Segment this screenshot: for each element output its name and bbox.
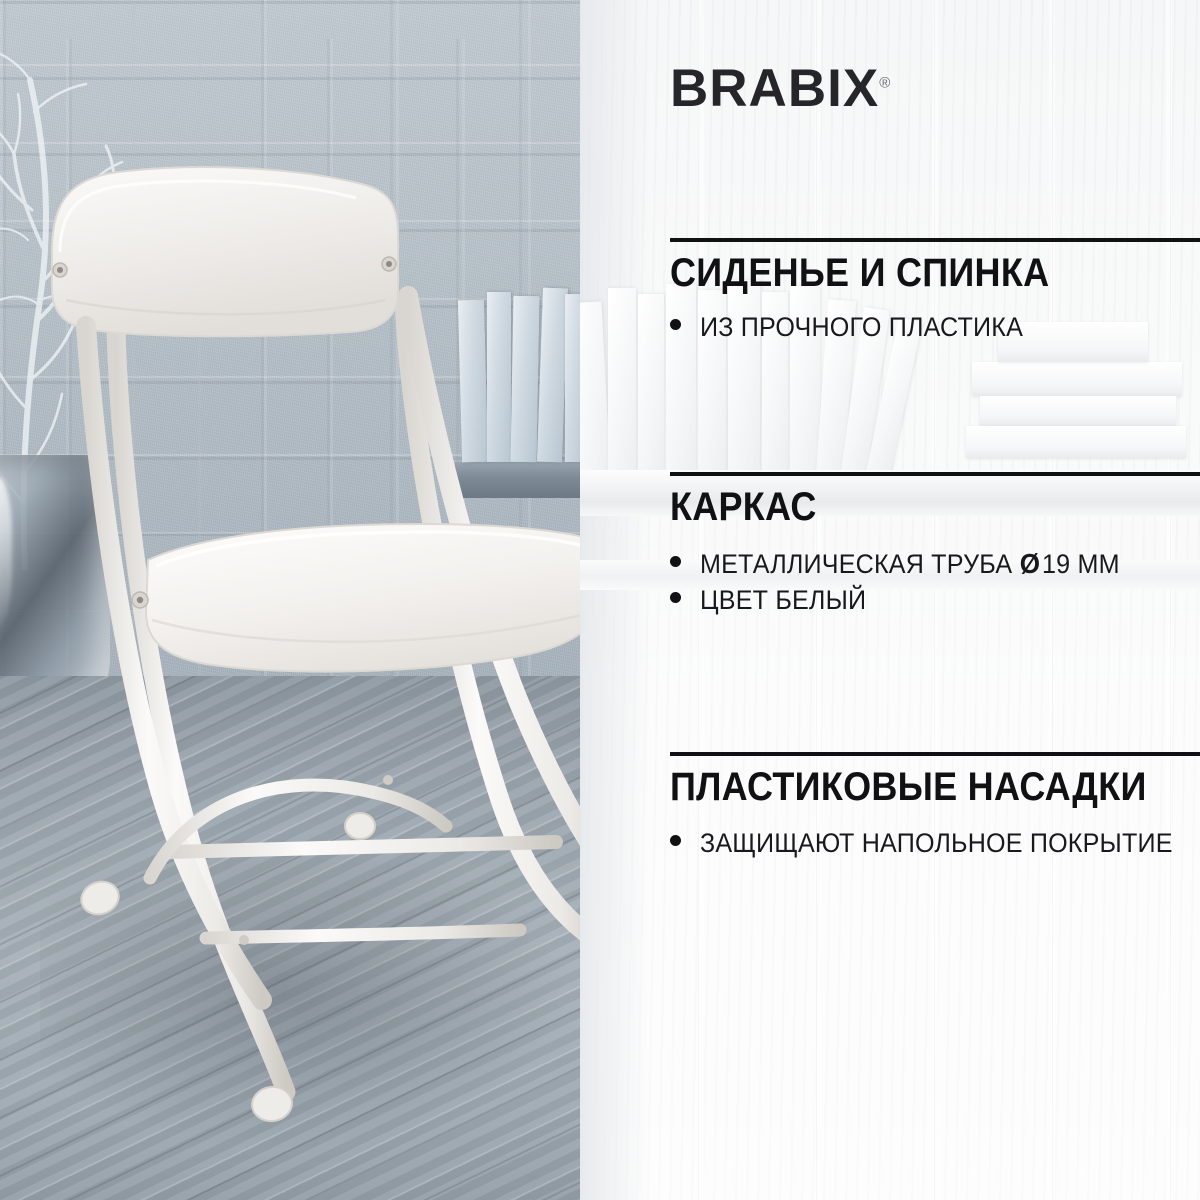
chair-foot-caps: [77, 813, 580, 1124]
section-frame: КАРКАС МЕТАЛЛИЧЕСКАЯ ТРУБАØ19 ММ ЦВЕТ БЕ…: [670, 486, 1200, 618]
bullet-text: ЗАЩИЩАЮТ НАПОЛЬНОЕ ПОКРЫТИЕ: [700, 826, 1173, 861]
list-item: МЕТАЛЛИЧЕСКАЯ ТРУБАØ19 ММ: [670, 546, 1200, 582]
section-title: ПЛАСТИКОВЫЕ НАСАДКИ: [670, 766, 1147, 808]
diameter-icon: Ø: [1012, 548, 1042, 579]
brand-name: BRABIX: [670, 59, 879, 118]
brabix-logo: BRABIX®: [670, 62, 890, 115]
folding-chair: [0, 0, 580, 1200]
section-plastic-caps: ПЛАСТИКОВЫЕ НАСАДКИ ЗАЩИЩАЮТ НАПОЛЬНОЕ П…: [670, 766, 1200, 861]
frame-material-label: МЕТАЛЛИЧЕСКАЯ ТРУБА: [700, 549, 1012, 579]
frame-diameter-value: 19 ММ: [1042, 549, 1120, 579]
chair-backrest: [52, 167, 398, 336]
section-title: СИДЕНЬЕ И СПИНКА: [670, 252, 1147, 294]
spec-content: BRABIX® СИДЕНЬЕ И СПИНКА ИЗ ПРОЧНОГО ПЛА…: [580, 0, 1200, 1200]
list-item: ИЗ ПРОЧНОГО ПЛАСТИКА: [670, 310, 1200, 345]
list-item: ЦВЕТ БЕЛЫЙ: [670, 583, 1200, 618]
bullet-text: МЕТАЛЛИЧЕСКАЯ ТРУБАØ19 ММ: [700, 546, 1120, 582]
bullet-icon: [670, 556, 681, 567]
product-infographic: BRABIX® СИДЕНЬЕ И СПИНКА ИЗ ПРОЧНОГО ПЛА…: [0, 0, 1200, 1200]
chair-seat: [132, 524, 580, 672]
bullet-icon: [670, 592, 681, 603]
registered-trademark-icon: ®: [879, 74, 890, 91]
section-divider: [670, 472, 1200, 476]
bullet-icon: [670, 835, 681, 846]
bullet-text: ЦВЕТ БЕЛЫЙ: [700, 583, 866, 618]
list-item: ЗАЩИЩАЮТ НАПОЛЬНОЕ ПОКРЫТИЕ: [670, 826, 1200, 861]
section-divider: [670, 238, 1200, 242]
section-seat-and-back: СИДЕНЬЕ И СПИНКА ИЗ ПРОЧНОГО ПЛАСТИКА: [670, 252, 1200, 345]
section-title: КАРКАС: [670, 486, 1147, 528]
section-bullets: ЗАЩИЩАЮТ НАПОЛЬНОЕ ПОКРЫТИЕ: [670, 826, 1200, 861]
section-bullets: ИЗ ПРОЧНОГО ПЛАСТИКА: [670, 310, 1200, 345]
section-bullets: МЕТАЛЛИЧЕСКАЯ ТРУБАØ19 ММ ЦВЕТ БЕЛЫЙ: [670, 546, 1200, 617]
bullet-icon: [670, 319, 681, 330]
bullet-text: ИЗ ПРОЧНОГО ПЛАСТИКА: [700, 310, 1023, 345]
section-divider: [670, 752, 1200, 756]
product-photo: [0, 0, 580, 1200]
